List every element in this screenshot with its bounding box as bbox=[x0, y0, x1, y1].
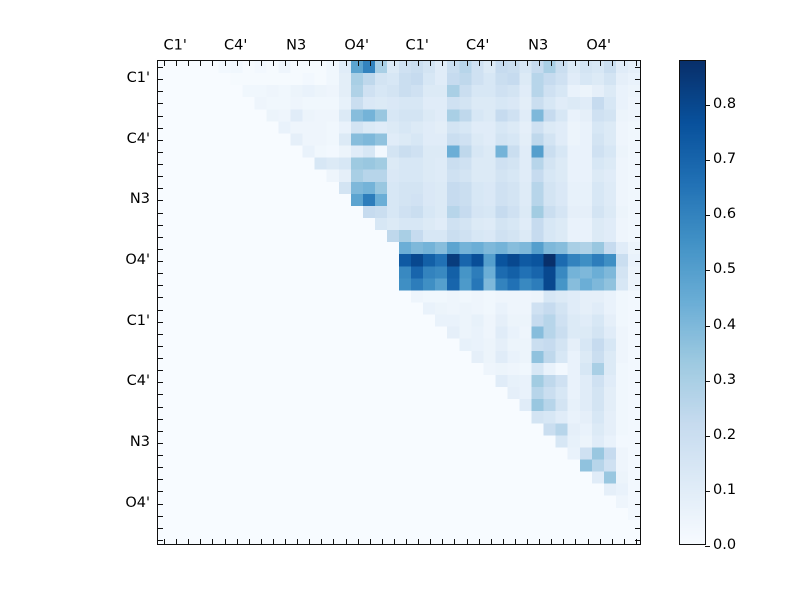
x-tick-mark bbox=[200, 539, 201, 544]
y-tick-mark bbox=[635, 140, 640, 141]
y-tick-mark bbox=[635, 419, 640, 420]
y-tick-mark bbox=[158, 176, 163, 177]
x-axis-tick-label: C4' bbox=[224, 39, 247, 54]
x-axis-tick-label: C1' bbox=[405, 39, 428, 54]
x-tick-mark bbox=[164, 539, 165, 544]
y-tick-mark bbox=[635, 273, 640, 274]
colorbar-tick-mark bbox=[705, 491, 710, 492]
y-tick-mark bbox=[158, 370, 163, 371]
x-axis-tick-label: C4' bbox=[466, 39, 489, 54]
y-tick-mark bbox=[635, 297, 640, 298]
x-tick-mark bbox=[612, 539, 613, 544]
y-tick-mark bbox=[158, 431, 163, 432]
x-tick-mark bbox=[321, 61, 322, 66]
y-tick-mark bbox=[635, 431, 640, 432]
y-tick-mark bbox=[635, 213, 640, 214]
x-tick-mark bbox=[237, 61, 238, 66]
x-tick-mark bbox=[212, 539, 213, 544]
y-tick-mark bbox=[635, 249, 640, 250]
colorbar-tick-mark bbox=[705, 381, 710, 382]
y-tick-mark bbox=[635, 322, 640, 323]
x-tick-mark bbox=[370, 61, 371, 66]
x-tick-mark bbox=[249, 61, 250, 66]
y-tick-mark bbox=[158, 297, 163, 298]
y-tick-mark bbox=[635, 467, 640, 468]
y-tick-mark bbox=[635, 91, 640, 92]
colorbar-tick-label: 0.3 bbox=[713, 372, 736, 387]
y-tick-mark bbox=[635, 443, 640, 444]
y-tick-mark bbox=[158, 249, 163, 250]
x-tick-mark bbox=[551, 61, 552, 66]
x-tick-mark bbox=[624, 539, 625, 544]
y-tick-mark bbox=[158, 419, 163, 420]
y-tick-mark bbox=[158, 79, 163, 80]
y-tick-mark bbox=[158, 540, 163, 541]
y-tick-mark bbox=[635, 67, 640, 68]
y-tick-mark bbox=[635, 225, 640, 226]
y-tick-mark bbox=[635, 382, 640, 383]
y-axis-tick-label: O4' bbox=[125, 253, 150, 268]
colorbar-tick-mark bbox=[705, 215, 710, 216]
y-tick-mark bbox=[635, 394, 640, 395]
x-tick-mark bbox=[273, 61, 274, 66]
y-tick-mark bbox=[635, 128, 640, 129]
x-tick-mark bbox=[297, 61, 298, 66]
x-axis-tick-label: N3 bbox=[286, 39, 306, 54]
y-tick-mark bbox=[158, 407, 163, 408]
y-tick-mark bbox=[158, 225, 163, 226]
y-tick-mark bbox=[158, 504, 163, 505]
y-axis-tick-label: C1' bbox=[127, 313, 150, 328]
y-tick-mark bbox=[158, 273, 163, 274]
colorbar-tick-label: 0.6 bbox=[713, 207, 736, 222]
y-tick-mark bbox=[158, 491, 163, 492]
y-tick-mark bbox=[158, 164, 163, 165]
y-tick-mark bbox=[635, 479, 640, 480]
x-tick-mark bbox=[176, 61, 177, 66]
y-tick-mark bbox=[158, 455, 163, 456]
colorbar-tick-label: 0.0 bbox=[713, 538, 736, 553]
x-tick-mark bbox=[249, 539, 250, 544]
y-tick-mark bbox=[635, 237, 640, 238]
x-tick-mark bbox=[176, 539, 177, 544]
colorbar-tick-mark bbox=[705, 270, 710, 271]
x-tick-mark bbox=[551, 539, 552, 544]
x-tick-mark bbox=[479, 539, 480, 544]
colorbar-tick-mark bbox=[705, 105, 710, 106]
x-tick-mark bbox=[454, 539, 455, 544]
y-axis-tick-label: O4' bbox=[125, 495, 150, 510]
x-tick-mark bbox=[563, 61, 564, 66]
x-tick-mark bbox=[406, 539, 407, 544]
y-tick-mark bbox=[158, 443, 163, 444]
x-tick-mark bbox=[382, 61, 383, 66]
colorbar-axes bbox=[679, 60, 706, 545]
x-tick-mark bbox=[285, 539, 286, 544]
y-tick-mark bbox=[158, 213, 163, 214]
heatmap-image bbox=[158, 61, 640, 544]
colorbar-tick-label: 0.5 bbox=[713, 262, 736, 277]
y-tick-mark bbox=[158, 261, 163, 262]
y-tick-mark bbox=[635, 188, 640, 189]
x-tick-mark bbox=[442, 539, 443, 544]
x-tick-mark bbox=[200, 61, 201, 66]
y-tick-mark bbox=[635, 152, 640, 153]
y-tick-mark bbox=[158, 528, 163, 529]
y-tick-mark bbox=[635, 370, 640, 371]
x-axis-tick-label: C1' bbox=[163, 39, 186, 54]
y-tick-mark bbox=[158, 334, 163, 335]
x-tick-mark bbox=[563, 539, 564, 544]
x-axis-tick-label: O4' bbox=[586, 39, 611, 54]
x-tick-mark bbox=[503, 539, 504, 544]
x-tick-mark bbox=[273, 539, 274, 544]
colorbar-gradient bbox=[680, 61, 705, 544]
y-tick-mark bbox=[635, 540, 640, 541]
x-tick-mark bbox=[454, 61, 455, 66]
x-tick-mark bbox=[491, 539, 492, 544]
x-tick-mark bbox=[624, 61, 625, 66]
y-tick-mark bbox=[635, 528, 640, 529]
y-tick-mark bbox=[158, 467, 163, 468]
x-tick-mark bbox=[358, 539, 359, 544]
colorbar-tick-label: 0.7 bbox=[713, 152, 736, 167]
y-tick-mark bbox=[635, 455, 640, 456]
x-tick-mark bbox=[333, 61, 334, 66]
x-tick-mark bbox=[188, 539, 189, 544]
y-tick-mark bbox=[635, 261, 640, 262]
x-tick-mark bbox=[418, 61, 419, 66]
x-tick-mark bbox=[418, 539, 419, 544]
y-tick-mark bbox=[158, 128, 163, 129]
y-tick-mark bbox=[158, 322, 163, 323]
x-axis-tick-label: N3 bbox=[528, 39, 548, 54]
y-tick-mark bbox=[635, 200, 640, 201]
y-tick-mark bbox=[158, 67, 163, 68]
x-axis-tick-label: O4' bbox=[344, 39, 369, 54]
y-tick-mark bbox=[635, 164, 640, 165]
y-axis-tick-label: C1' bbox=[127, 71, 150, 86]
figure-canvas: C1'C4'N3O4'C1'C4'N3O4' C1'C4'N3O4'C1'C4'… bbox=[0, 0, 800, 600]
x-tick-mark bbox=[430, 61, 431, 66]
y-tick-mark bbox=[635, 334, 640, 335]
x-tick-mark bbox=[612, 61, 613, 66]
x-tick-mark bbox=[237, 539, 238, 544]
colorbar-tick-label: 0.8 bbox=[713, 97, 736, 112]
x-tick-mark bbox=[600, 539, 601, 544]
y-tick-mark bbox=[158, 103, 163, 104]
x-tick-mark bbox=[261, 539, 262, 544]
x-tick-mark bbox=[575, 539, 576, 544]
x-tick-mark bbox=[212, 61, 213, 66]
y-tick-mark bbox=[158, 237, 163, 238]
y-tick-mark bbox=[635, 79, 640, 80]
colorbar-tick-mark bbox=[705, 326, 710, 327]
y-tick-mark bbox=[635, 116, 640, 117]
y-tick-mark bbox=[635, 407, 640, 408]
x-tick-mark bbox=[164, 61, 165, 66]
y-tick-mark bbox=[158, 516, 163, 517]
x-tick-mark bbox=[539, 61, 540, 66]
y-tick-mark bbox=[635, 103, 640, 104]
colorbar-tick-mark bbox=[705, 160, 710, 161]
x-tick-mark bbox=[309, 539, 310, 544]
x-tick-mark bbox=[527, 539, 528, 544]
colorbar-tick-label: 0.2 bbox=[713, 428, 736, 443]
x-tick-mark bbox=[370, 539, 371, 544]
x-tick-mark bbox=[394, 539, 395, 544]
x-tick-mark bbox=[539, 539, 540, 544]
y-tick-mark bbox=[158, 200, 163, 201]
x-tick-mark bbox=[430, 539, 431, 544]
y-axis-tick-label: N3 bbox=[130, 192, 150, 207]
x-tick-mark bbox=[285, 61, 286, 66]
x-tick-mark bbox=[515, 539, 516, 544]
x-tick-mark bbox=[503, 61, 504, 66]
y-tick-mark bbox=[158, 394, 163, 395]
y-tick-mark bbox=[635, 516, 640, 517]
y-tick-mark bbox=[158, 152, 163, 153]
y-tick-mark bbox=[158, 116, 163, 117]
heatmap-axes bbox=[157, 60, 641, 545]
x-tick-mark bbox=[358, 61, 359, 66]
y-tick-mark bbox=[158, 358, 163, 359]
x-tick-mark bbox=[588, 61, 589, 66]
x-tick-mark bbox=[467, 61, 468, 66]
x-tick-mark bbox=[346, 61, 347, 66]
x-tick-mark bbox=[636, 61, 637, 66]
colorbar-tick-mark bbox=[705, 546, 710, 547]
y-tick-mark bbox=[158, 91, 163, 92]
y-tick-mark bbox=[158, 188, 163, 189]
y-tick-mark bbox=[158, 346, 163, 347]
x-tick-mark bbox=[309, 61, 310, 66]
y-tick-mark bbox=[635, 285, 640, 286]
x-tick-mark bbox=[188, 61, 189, 66]
x-tick-mark bbox=[575, 61, 576, 66]
x-tick-mark bbox=[467, 539, 468, 544]
colorbar-tick-mark bbox=[705, 436, 710, 437]
x-tick-mark bbox=[406, 61, 407, 66]
x-tick-mark bbox=[491, 61, 492, 66]
x-tick-mark bbox=[394, 61, 395, 66]
x-tick-mark bbox=[321, 539, 322, 544]
colorbar-tick-label: 0.4 bbox=[713, 317, 736, 332]
y-tick-mark bbox=[158, 382, 163, 383]
y-tick-mark bbox=[635, 346, 640, 347]
y-tick-mark bbox=[635, 176, 640, 177]
y-axis-tick-label: C4' bbox=[127, 374, 150, 389]
y-tick-mark bbox=[158, 140, 163, 141]
x-tick-mark bbox=[225, 61, 226, 66]
x-tick-mark bbox=[588, 539, 589, 544]
x-tick-mark bbox=[333, 539, 334, 544]
x-tick-mark bbox=[442, 61, 443, 66]
y-axis-tick-label: N3 bbox=[130, 435, 150, 450]
y-tick-mark bbox=[635, 504, 640, 505]
y-axis-tick-label: C4' bbox=[127, 132, 150, 147]
x-tick-mark bbox=[225, 539, 226, 544]
y-tick-mark bbox=[635, 491, 640, 492]
x-tick-mark bbox=[515, 61, 516, 66]
x-tick-mark bbox=[479, 61, 480, 66]
y-tick-mark bbox=[635, 310, 640, 311]
y-tick-mark bbox=[158, 479, 163, 480]
x-tick-mark bbox=[600, 61, 601, 66]
y-tick-mark bbox=[158, 285, 163, 286]
x-tick-mark bbox=[527, 61, 528, 66]
y-tick-mark bbox=[635, 358, 640, 359]
x-tick-mark bbox=[382, 539, 383, 544]
y-tick-mark bbox=[158, 310, 163, 311]
colorbar-tick-label: 0.1 bbox=[713, 483, 736, 498]
x-tick-mark bbox=[346, 539, 347, 544]
x-tick-mark bbox=[261, 61, 262, 66]
x-tick-mark bbox=[297, 539, 298, 544]
